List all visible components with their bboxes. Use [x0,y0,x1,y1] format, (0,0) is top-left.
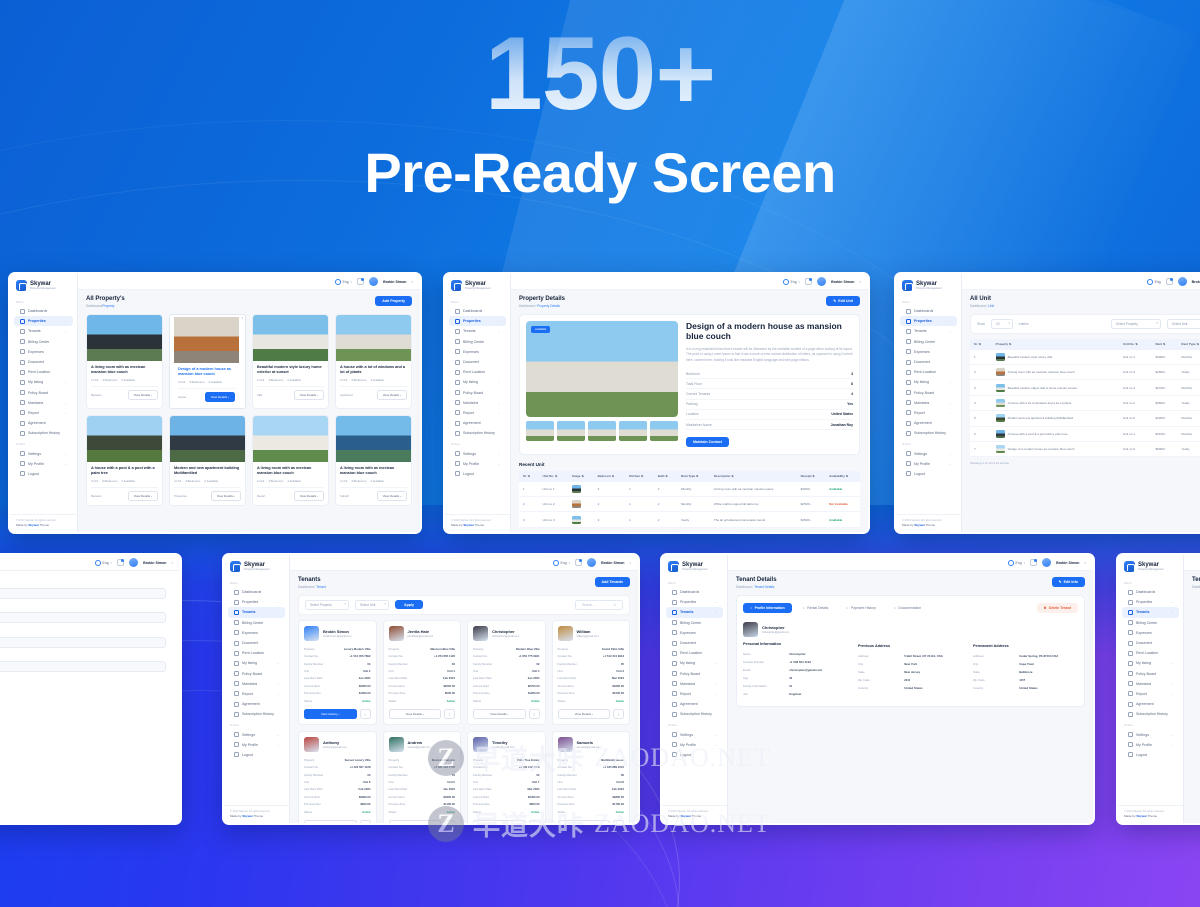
sidebar-item-my-profile[interactable]: My Profile⌄ [14,459,73,469]
sidebar-item-expenses[interactable]: Expenses [14,347,73,357]
sidebar-item-label: My Profile [1136,743,1152,747]
sidebar-item-expenses[interactable]: Expenses [900,347,957,357]
sidebar-item-dashboards[interactable]: Dashboards [666,587,723,597]
sidebar-nav-main[interactable]: DashboardsProperties⌄Tenants⌄Billing Cen… [445,306,510,438]
breadcrumb[interactable]: Dashboard / Tenant [298,585,326,589]
bell-icon[interactable] [117,559,124,566]
sidebar-item-tenants[interactable]: Tenants⌄ [900,326,957,336]
view-details-button[interactable]: View Details › [211,491,241,501]
tenant-card[interactable]: Brokin Simonbrokinsimon@gmail.comPropert… [298,620,377,725]
chevron-down-icon: ⌄ [1170,682,1173,686]
table-row[interactable]: 1Beautiful modern style luxury villaUnit… [970,350,1200,365]
brand[interactable]: Skywar Property Management [10,274,77,296]
info-row: Zip Code2211 [858,676,963,684]
sidebar-item-my-listing[interactable]: My listing⌄ [449,377,506,387]
sidebar-item-settings[interactable]: Settings⌄ [14,448,73,458]
view-details-button[interactable]: View Details › [294,390,324,400]
sidebar-item-properties[interactable]: Properties⌄ [449,316,506,326]
topbar[interactable]: Eng▾ Brokin Simon ▾ [290,555,638,571]
sidebar-item-rent-location[interactable]: Rent Location [900,367,957,377]
column-header[interactable]: Description ⇅ [710,471,797,481]
property-card[interactable]: A living room with as mexican mansion bl… [252,415,329,506]
bell-icon[interactable] [1166,278,1173,285]
breadcrumb-home[interactable]: Dashboard [519,304,535,308]
sidebar-item-logout[interactable]: Logout [449,469,506,479]
tenant-field-key: Previous Due [389,802,406,806]
language-selector[interactable]: Eng▾ [553,560,571,566]
sidebar-item-tenants[interactable]: Tenants⌄ [228,607,285,617]
tab-documentation[interactable]: ○Documentation [887,603,928,613]
sidebar[interactable]: Skywar Property Management Main Dashboar… [662,555,728,823]
select-property-filter[interactable]: Select Property [305,600,349,611]
field-input[interactable]: Enter address [0,637,166,648]
avatar[interactable] [1178,277,1187,286]
select-property-filter[interactable]: Select Property [1111,319,1161,330]
select-unit-filter[interactable]: Select Unit [355,600,389,611]
view-details-button[interactable]: View Details › [377,390,407,400]
tenant-action-button[interactable]: View Details › [389,709,442,719]
tenant-field-value: $3800.00 [612,795,624,799]
select-unit-filter[interactable]: Select Unit [1167,319,1200,330]
tenant-card[interactable]: Williamwilliam@gmail.comPropertyGrand Pa… [552,620,631,725]
table-row[interactable]: 6A house with a pool & a pool with a pal… [970,426,1200,441]
breadcrumb[interactable]: Dashboard / Unit [970,304,994,308]
table-row[interactable]: 3Beautiful modern object that is home ex… [970,380,1200,395]
column-header[interactable]: Kitchen ⇅ [625,471,654,481]
field-input[interactable]: City [0,661,166,672]
sidebar-item-document[interactable]: Document [14,357,73,367]
brand-tagline: Property Management [1138,568,1164,571]
table-row[interactable]: 1Unit no 1312MonthlyA living room with a… [519,482,860,497]
sidebar-item-subscription-history[interactable]: Subscription History [228,709,285,719]
sidebar-item-dashboards[interactable]: Dashboards [900,306,957,316]
sidebar-item-policy-board[interactable]: Policy Board [449,388,506,398]
logout-icon [1128,752,1133,757]
search-input[interactable]: Search...⚲ [575,600,623,611]
sidebar-item-maintains[interactable]: Maintains⌄ [1122,679,1179,689]
property-thumbnail[interactable] [557,421,585,441]
sidebar-item-subscription-history[interactable]: Subscription History [666,709,723,719]
property-card[interactable]: Design of a modern house as mansion blue… [169,314,246,410]
sidebar-item-document[interactable]: Document [1122,638,1179,648]
sidebar-item-maintains[interactable]: Maintains⌄ [900,398,957,408]
tenant-avatar [389,626,404,641]
sidebar-item-agreement[interactable]: Agreement [449,418,506,428]
bell-icon[interactable] [357,278,364,285]
add-property-button[interactable]: Add Property [375,296,412,306]
sidebar-item-my-listing[interactable]: My listing⌄ [228,658,285,668]
column-header[interactable]: Unit No. ⇅ [1119,339,1152,349]
page-title: All Property's [86,296,125,302]
sidebar-item-billing-center[interactable]: Billing Center [666,618,723,628]
permanent-address-column: Permanent Address AddressCedar Spring, P… [973,622,1078,698]
apply-filter-button[interactable]: Apply [395,600,423,609]
sidebar-item-properties[interactable]: Properties⌄ [228,597,285,607]
cell-rent-type: Monthly [677,482,710,497]
more-options-icon[interactable]: ⋮ [360,820,371,823]
sidebar-item-policy-board[interactable]: Policy Board [1122,669,1179,679]
sidebar-item-report[interactable]: Report⌄ [900,408,957,418]
screenshot-all-unit[interactable]: Skywar Property Management Main Dashboar… [894,272,1200,534]
bell-icon[interactable] [1030,559,1037,566]
sidebar-item-policy-board[interactable]: Policy Board [14,388,73,398]
topbar[interactable] [1184,555,1200,571]
edit-unit-button[interactable]: ✎Edit Unit [826,296,860,306]
sidebar-item-rent-location[interactable]: Rent Location [14,367,73,377]
sidebar-item-agreement[interactable]: Agreement [1122,699,1179,709]
tenant-field-value: Modern Blue Villa [516,647,539,651]
form-field: Select Property [0,581,166,599]
column-header[interactable]: Availability ⇅ [825,471,860,481]
sidebar-item-label: My Profile [242,743,258,747]
sidebar-item-my-profile[interactable]: My Profile⌄ [1122,740,1179,750]
sidebar-item-my-listing[interactable]: My listing⌄ [900,377,957,387]
sidebar-item-my-listing[interactable]: My listing⌄ [666,658,723,668]
sidebar-item-policy-board[interactable]: Policy Board [666,669,723,679]
sidebar-item-properties[interactable]: Properties⌄ [1122,597,1179,607]
chevron-down-icon[interactable]: ▾ [411,280,413,284]
screenshot-property-form[interactable]: Eng▾ Brokin Simon ▾ Select PropertyCurre… [0,553,182,825]
sidebar-item-tenants[interactable]: Tenants⌄ [14,326,73,336]
table-row[interactable]: 5Modern and new apartment building Multi… [970,411,1200,426]
chevron-down-icon[interactable]: ▾ [1084,561,1086,565]
sidebar-item-tenants[interactable]: Tenants⌄ [1122,607,1179,617]
sidebar-item-settings[interactable]: Settings⌄ [1122,729,1179,739]
topbar[interactable]: Eng▾ Brokin Simon ▾ [728,555,1093,571]
view-details-button[interactable]: View Details › [205,392,235,402]
tenant-avatar [389,737,404,752]
sidebar-item-tenants[interactable]: Tenants⌄ [666,607,723,617]
sidebar[interactable]: Skywar Property Management Main Dashboar… [10,274,78,532]
sidebar[interactable]: Skywar Property Management Main Dashboar… [896,274,962,532]
property-image [336,416,411,462]
sidebar-item-rent-location[interactable]: Rent Location [1122,648,1179,658]
sidebar-item-rent-location[interactable]: Rent Location [666,648,723,658]
property-form[interactable]: Select PropertyCurrent Address*Enter add… [0,581,166,672]
language-selector[interactable]: Eng▾ [95,560,113,566]
sidebar-item-agreement[interactable]: Agreement [228,699,285,709]
tenant-card[interactable]: Christopherchristopher@gmail.comProperty… [467,620,546,725]
sidebar-item-settings[interactable]: Settings⌄ [900,448,957,458]
field-input[interactable]: Enter address [0,612,166,623]
table-header-row[interactable]: Sr. ⇅Property ⇅Unit No. ⇅Rent ⇅Rent Type… [970,339,1200,349]
column-header[interactable]: Rent Type ⇅ [677,471,710,481]
sidebar-item-properties[interactable]: Properties⌄ [14,316,73,326]
sidebar-item-billing-center[interactable]: Billing Center [228,618,285,628]
property-thumbnail[interactable] [588,421,616,441]
tenant-name: Jerrila Hale [408,629,434,634]
more-options-icon[interactable]: ⋮ [613,709,624,719]
brand[interactable]: Skywar Property Management [1118,555,1183,577]
property-tag: Mansion [91,393,102,397]
tenant-action-button[interactable]: View Details › [473,709,526,719]
sidebar[interactable]: Skywar Property Management Main Dashboar… [1118,555,1184,823]
tenant-action-button[interactable]: View History › [304,709,357,719]
property-thumbnail[interactable] [619,421,647,441]
sidebar-nav-other[interactable]: Settings⌄My Profile⌄Logout [224,729,289,760]
footer-copyright: © 2024 Skywar. All rights reserved. [902,519,955,522]
watermark: Z 早道大咔 ZAODAO.NET [428,738,771,777]
field-input[interactable] [0,588,166,599]
sidebar-item-dashboards[interactable]: Dashboards [449,306,506,316]
sidebar-item-document[interactable]: Document [666,638,723,648]
sidebar-item-rent-location[interactable]: Rent Location [449,367,506,377]
breadcrumb[interactable]: Dashboard/Property [86,304,125,308]
sidebar-item-my-profile[interactable]: My Profile⌄ [900,459,957,469]
show-entries-select[interactable]: 10 [991,319,1013,330]
avatar[interactable] [129,558,138,567]
unit-filter-bar[interactable]: Show 10 entries Select Property Select U… [970,314,1200,335]
cell-unit: Unit no 5 [1119,411,1152,426]
sidebar-nav-other[interactable]: Settings⌄My Profile⌄Logout [896,448,961,479]
breadcrumb-home[interactable]: Dashboard [736,585,752,589]
column-header[interactable]: Rent Type ⇅ [1177,339,1200,349]
sidebar-item-subscription-history[interactable]: Subscription History [449,428,506,438]
topbar[interactable]: Eng▾ Brokin Simon ▾ [511,274,868,290]
tenant-field-value: $1200.00 [528,691,540,695]
sidebar-item-dashboards[interactable]: Dashboards [228,587,285,597]
sidebar-item-label: Subscription History [914,431,946,435]
view-details-button[interactable]: View Details › [377,491,407,501]
avatar[interactable] [1042,558,1051,567]
table-row[interactable]: 7Design of a modern house as mansion blu… [970,441,1200,456]
chevron-down-icon[interactable]: ▾ [859,280,861,284]
tenant-field-key: Previous Due [304,691,321,695]
breadcrumb-home[interactable]: Dashboard [970,304,986,308]
chevron-down-icon: ⌄ [276,692,279,696]
tenant-card[interactable]: Jerrila Halejerrilahale@gmail.comPropert… [383,620,462,725]
sidebar-item-settings[interactable]: Settings⌄ [228,729,285,739]
hero-subtitle: Pre-Ready Screen [0,140,1200,205]
column-header[interactable]: Property ⇅ [992,339,1119,349]
more-options-icon[interactable]: ⋮ [529,709,540,719]
cell-rent-type: Yearly [1177,441,1200,456]
bell-icon[interactable] [575,559,582,566]
table-row[interactable]: 2Unit no 2212MonthlyWhite marble topped … [519,496,860,511]
brand[interactable]: Skywar Property Management [896,274,961,296]
wrench-icon [1128,681,1133,686]
property-meta-row: 2 Unit4 Bedrooms3 Available [340,378,407,382]
sidebar[interactable]: Skywar Property Management Main Dashboar… [445,274,511,532]
sidebar-item-logout[interactable]: Logout [900,469,957,479]
tenant-field-key: Current Rent [304,684,320,688]
chevron-down-icon[interactable]: ▾ [629,561,631,565]
screenshot-tenants[interactable]: Skywar Property Management Main Dashboar… [222,553,640,825]
sidebar-item-maintains[interactable]: Maintains⌄ [14,398,73,408]
tenant-field-key: Current Rent [473,795,489,799]
info-row: AddressCedar Spring, PA 87104 USA [973,652,1078,660]
table-header-row[interactable]: Sr. ⇅Unit No. ⇅Image ⇅Bedroom ⇅Kitchen ⇅… [519,471,860,481]
brand[interactable]: Skywar Property Management [445,274,510,296]
column-header[interactable]: Image ⇅ [568,471,594,481]
sidebar-item-my-listing[interactable]: My listing⌄ [14,377,73,387]
sidebar-item-logout[interactable]: Logout [1122,750,1179,760]
property-card[interactable]: Beautiful modern style luxury home exter… [252,314,329,410]
sidebar-item-billing-center[interactable]: Billing Center [14,337,73,347]
property-hero-image[interactable]: Available [526,321,678,417]
sidebar-item-logout[interactable]: Logout [14,469,73,479]
sidebar-item-policy-board[interactable]: Policy Board [900,388,957,398]
property-card[interactable]: A living room with as mexican mansion bl… [335,415,412,506]
property-card[interactable]: Modern and new apartment building Multif… [169,415,246,506]
sidebar-item-rent-location[interactable]: Rent Location [228,648,285,658]
sidebar-item-report[interactable]: Report⌄ [1122,689,1179,699]
sidebar-nav-other[interactable]: Settings⌄My Profile⌄Logout [1118,729,1183,760]
breadcrumb-home[interactable]: Dashboard [298,585,314,589]
table-body[interactable]: 1Beautiful modern style luxury villaUnit… [970,350,1200,457]
view-details-button[interactable]: View Details › [128,491,158,501]
sidebar-item-subscription-history[interactable]: Subscription History [900,428,957,438]
view-details-button[interactable]: View Details › [128,390,158,400]
sidebar-item-my-profile[interactable]: My Profile⌄ [449,459,506,469]
avatar[interactable] [817,277,826,286]
chevron-down-icon: ⌄ [1170,610,1173,614]
tenant-detail-tabs[interactable]: ○Profile Information○Rental Details○Paym… [743,601,1078,615]
table-body[interactable]: 1Unit no 1312MonthlyA living room with a… [519,482,860,528]
sidebar-item-expenses[interactable]: Expenses [449,347,506,357]
sidebar-item-report[interactable]: Report⌄ [228,689,285,699]
sidebar-item-label: Subscription History [28,431,60,435]
tenant-action-button[interactable]: View Details › [558,709,611,719]
breadcrumb-home[interactable]: Dashboard [86,304,102,308]
sidebar-item-my-listing[interactable]: My listing⌄ [1122,658,1179,668]
more-options-icon[interactable]: ⋮ [444,709,455,719]
sidebar-item-billing-center[interactable]: Billing Center [1122,618,1179,628]
sidebar-item-agreement[interactable]: Agreement [900,418,957,428]
unit-thumbnail [572,500,581,508]
column-header[interactable]: Bath ⇅ [654,471,677,481]
tab-profile-information[interactable]: ○Profile Information [743,603,792,613]
sidebar-item-policy-board[interactable]: Policy Board [228,669,285,679]
tenant-field-value: Unit 3 [616,669,624,673]
screenshot-all-properties[interactable]: Skywar Property Management Main Dashboar… [8,272,422,534]
breadcrumb[interactable]: Dashboard / Tenant Details [736,585,777,589]
language-selector[interactable]: Eng▾ [1008,560,1026,566]
sidebar-item-report[interactable]: Report⌄ [449,408,506,418]
breadcrumb-home[interactable]: Dashboard [1192,585,1200,589]
sidebar-nav-main[interactable]: DashboardsProperties⌄Tenants⌄Billing Cen… [662,587,727,719]
sidebar-item-report[interactable]: Report⌄ [666,689,723,699]
sidebar-item-agreement[interactable]: Agreement [14,418,73,428]
column-header[interactable]: Sr. ⇅ [970,339,992,349]
table-row[interactable]: 4A house with a lot of windows and a lot… [970,395,1200,410]
chevron-down-icon[interactable]: ▾ [171,561,173,565]
language-selector[interactable]: Eng▾ [783,279,801,285]
avatar[interactable] [369,277,378,286]
language-selector[interactable]: Eng [1147,279,1161,285]
sidebar-item-subscription-history[interactable]: Subscription History [14,428,73,438]
brand[interactable]: Skywar Property Management [224,555,289,577]
tab-rental-details[interactable]: ○Rental Details [796,603,836,613]
sidebar-nav-other[interactable]: Settings⌄My Profile⌄Logout [445,448,510,479]
sidebar-item-expenses[interactable]: Expenses [1122,628,1179,638]
topbar[interactable]: Eng▾ Brokin Simon ▾ [0,555,180,571]
breadcrumb[interactable]: Dashboard / Property Details [519,304,565,308]
sidebar-item-my-profile[interactable]: My Profile⌄ [228,740,285,750]
chevron-down-icon: ⌄ [497,319,500,323]
sidebar-nav-main[interactable]: DashboardsProperties⌄Tenants⌄Billing Cen… [896,306,961,438]
sidebar-item-dashboards[interactable]: Dashboards [14,306,73,316]
property-thumbnail[interactable] [526,421,554,441]
property-thumbnail[interactable] [650,421,678,441]
more-options-icon[interactable]: ⋮ [360,709,371,719]
breadcrumb[interactable]: Dashboard / Tenant Details [1192,585,1200,589]
language-selector[interactable]: Eng▾ [335,279,353,285]
sidebar-item-maintains[interactable]: Maintains⌄ [666,679,723,689]
tenant-field: UnitUnit 6 [304,778,371,785]
sidebar-item-document[interactable]: Document [449,357,506,367]
edit-info-button[interactable]: ✎Edit Info [1052,577,1085,587]
bell-icon[interactable] [805,278,812,285]
footer-made-label: Made by [902,523,914,527]
sidebar-item-document[interactable]: Document [228,638,285,648]
sidebar-item-subscription-history[interactable]: Subscription History [1122,709,1179,719]
sidebar-item-properties[interactable]: Properties⌄ [900,316,957,326]
property-card[interactable]: A house with a pool & a pool with a palm… [86,415,163,506]
delete-tenant-button[interactable]: ✖Delete Tenant [1037,603,1078,613]
sidebar-item-settings[interactable]: Settings⌄ [449,448,506,458]
show-label: Show [977,322,985,326]
sidebar-item-properties[interactable]: Properties⌄ [666,597,723,607]
info-key: Contact Number [743,660,789,664]
sidebar-nav-main[interactable]: DashboardsProperties⌄Tenants⌄Billing Cen… [1118,587,1183,719]
column-header[interactable]: Receipt ⇅ [797,471,826,481]
column-header[interactable]: Rent ⇅ [1151,339,1177,349]
screenshot-property-details[interactable]: Skywar Property Management Main Dashboar… [443,272,870,534]
sidebar-item-maintains[interactable]: Maintains⌄ [228,679,285,689]
topbar[interactable]: Eng▾ Brokin Simon ▾ [78,274,420,290]
tenant-filter-bar[interactable]: Select Property Select Unit Apply Search… [298,595,630,616]
screenshot-tenant-details[interactable]: Skywar Property Management Main Dashboar… [660,553,1095,825]
property-card[interactable]: A house with a lot of windows and a lot … [335,314,412,410]
property-thumbnails[interactable] [526,421,678,441]
sidebar-item-dashboards[interactable]: Dashboards [1122,587,1179,597]
sidebar-item-billing-center[interactable]: Billing Center [900,337,957,347]
maintain-contact-button[interactable]: Maintain Contact [686,437,729,447]
sidebar-item-logout[interactable]: Logout [228,750,285,760]
view-details-button[interactable]: View Details › [294,491,324,501]
sidebar-item-document[interactable]: Document [900,357,957,367]
sidebar-nav-main[interactable]: DashboardsProperties⌄Tenants⌄Billing Cen… [224,587,289,719]
sidebar-item-agreement[interactable]: Agreement [666,699,723,709]
column-header[interactable]: Unit No. ⇅ [539,471,568,481]
sidebar-item-maintains[interactable]: Maintains⌄ [449,398,506,408]
tenant-action-button[interactable]: View Details › [304,820,357,823]
property-card[interactable]: A living room with as mexican mansion bl… [86,314,163,410]
column-header[interactable]: Sr. ⇅ [519,471,539,481]
column-header[interactable]: Bedroom ⇅ [594,471,625,481]
tenant-field-value: Unit 2 [363,669,371,673]
tenant-card[interactable]: Anthonyanthony@gmail.comPropertySunset L… [298,731,377,823]
add-tenants-button[interactable]: Add Tenants [595,577,631,587]
screenshot-tenant-details-clipped[interactable]: Skywar Property Management Main Dashboar… [1116,553,1200,825]
sidebar-item-expenses[interactable]: Expenses [666,628,723,638]
brand[interactable]: Skywar Property Management [662,555,727,577]
table-row[interactable]: 3Unit no 3312YearlyThe all upholstered p… [519,512,860,527]
tab-payment-history[interactable]: ○Payment History [839,603,882,613]
sidebar-nav-main[interactable]: DashboardsProperties⌄Tenants⌄Billing Cen… [10,306,77,438]
sidebar-item-report[interactable]: Report⌄ [14,408,73,418]
topbar[interactable]: Eng Brokin Simon [962,274,1200,290]
tenant-field-key: Previous Due [558,691,575,695]
sidebar[interactable]: Skywar Property Management Main Dashboar… [224,555,290,823]
sidebar-nav-other[interactable]: Settings⌄My Profile⌄Logout [10,448,77,479]
sidebar-item-tenants[interactable]: Tenants⌄ [449,326,506,336]
avatar[interactable] [587,558,596,567]
table-row[interactable]: 2A living room with as mexican mansion b… [970,365,1200,380]
sidebar-item-expenses[interactable]: Expenses [228,628,285,638]
sidebar-item-billing-center[interactable]: Billing Center [449,337,506,347]
